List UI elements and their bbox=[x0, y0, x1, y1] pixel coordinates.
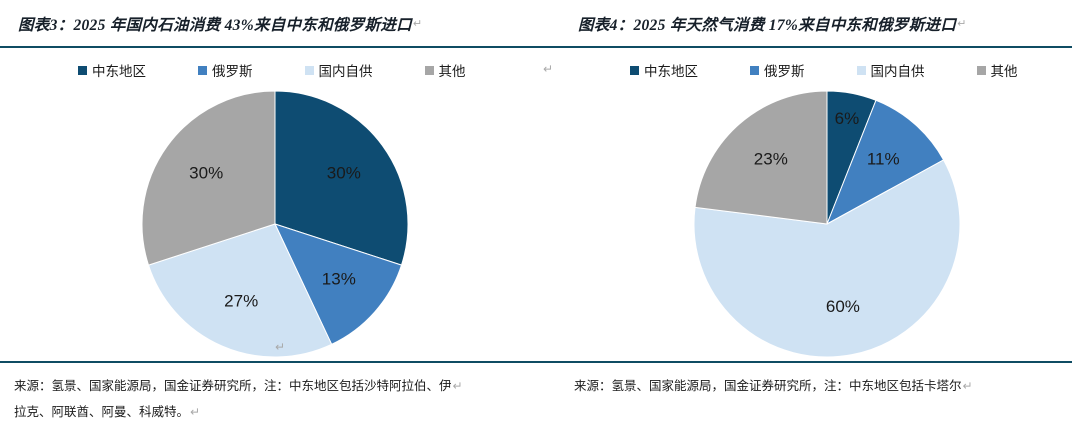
figure-pair-page: 图表3：2025 年国内石油消费 43%来自中东和俄罗斯进口↵ 图表4：2025… bbox=[0, 0, 1072, 434]
figure3-panel: 中东地区 俄罗斯 国内自供 其他 30%13%27%30% ↵ ↵ bbox=[0, 48, 560, 361]
pie-slice-label-国内自供: 60% bbox=[826, 297, 860, 316]
figure4-source-line-1: 来源：氢景、国家能源局，国金证券研究所，注：中东地区包括卡塔尔↵ bbox=[574, 373, 1072, 399]
figure4-plot-area: 6%11%60%23% bbox=[560, 48, 1072, 361]
paragraph-mark-icon: ↵ bbox=[963, 379, 973, 393]
paragraph-mark-icon: ↵ bbox=[275, 340, 285, 354]
figure3-pie-chart: 30%13%27%30% bbox=[0, 48, 560, 361]
figure4-source: 来源：氢景、国家能源局，国金证券研究所，注：中东地区包括卡塔尔↵ bbox=[560, 363, 1072, 399]
figure4-panel: 中东地区 俄罗斯 国内自供 其他 6%11%60%23% bbox=[560, 48, 1072, 361]
figure3-source: 来源：氢景、国家能源局，国金证券研究所，注：中东地区包括沙特阿拉伯、伊↵ 拉克、… bbox=[0, 363, 560, 425]
sources-row: 来源：氢景、国家能源局，国金证券研究所，注：中东地区包括沙特阿拉伯、伊↵ 拉克、… bbox=[0, 363, 1072, 434]
figure4-title-cell: 图表4：2025 年天然气消费 17%来自中东和俄罗斯进口↵ bbox=[560, 0, 1072, 47]
figure3-source-text-2: 拉克、阿联酋、阿曼、科威特。 bbox=[14, 405, 189, 419]
figure3-source-line-2: 拉克、阿联酋、阿曼、科威特。↵ bbox=[14, 399, 560, 425]
figure3-source-text-1: 来源：氢景、国家能源局，国金证券研究所，注：中东地区包括沙特阿拉伯、伊 bbox=[14, 379, 452, 393]
paragraph-mark-icon: ↵ bbox=[413, 17, 422, 30]
figure4-title: 图表4：2025 年天然气消费 17%来自中东和俄罗斯进口 bbox=[578, 13, 956, 35]
pie-slice-label-其他: 23% bbox=[754, 150, 788, 169]
titles-row: 图表3：2025 年国内石油消费 43%来自中东和俄罗斯进口↵ 图表4：2025… bbox=[0, 0, 1072, 47]
charts-row: 中东地区 俄罗斯 国内自供 其他 30%13%27%30% ↵ ↵ bbox=[0, 48, 1072, 361]
pie-slice-label-俄罗斯: 11% bbox=[867, 150, 900, 169]
figure4-pie-chart: 6%11%60%23% bbox=[560, 48, 1072, 361]
pie-slice-label-国内自供: 27% bbox=[224, 291, 258, 310]
paragraph-mark-icon: ↵ bbox=[543, 62, 553, 76]
pie-slice-label-其他: 30% bbox=[189, 163, 223, 182]
pie-slice-label-俄罗斯: 13% bbox=[322, 270, 356, 289]
pie-slice-label-中东地区: 6% bbox=[835, 109, 860, 128]
paragraph-mark-icon: ↵ bbox=[957, 17, 966, 30]
pie-slice-label-中东地区: 30% bbox=[327, 163, 361, 182]
figure3-title-cell: 图表3：2025 年国内石油消费 43%来自中东和俄罗斯进口↵ bbox=[0, 0, 560, 47]
figure3-source-line-1: 来源：氢景、国家能源局，国金证券研究所，注：中东地区包括沙特阿拉伯、伊↵ bbox=[14, 373, 560, 399]
figure4-source-text-1: 来源：氢景、国家能源局，国金证券研究所，注：中东地区包括卡塔尔 bbox=[574, 379, 962, 393]
paragraph-mark-icon: ↵ bbox=[453, 379, 463, 393]
figure3-title: 图表3：2025 年国内石油消费 43%来自中东和俄罗斯进口 bbox=[18, 13, 412, 35]
figure3-plot-area: 30%13%27%30% bbox=[0, 48, 560, 361]
paragraph-mark-icon: ↵ bbox=[190, 405, 200, 419]
